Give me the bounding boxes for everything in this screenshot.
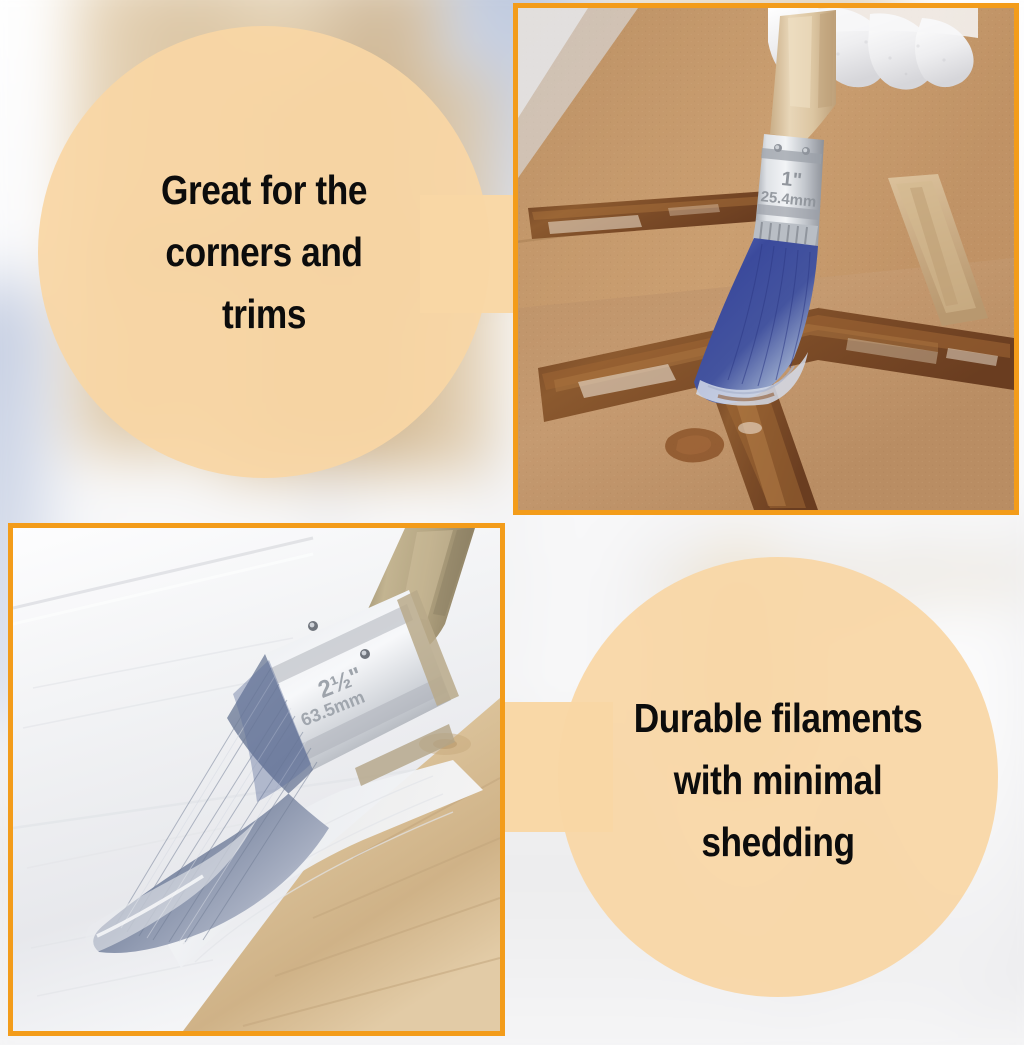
brush-size-imperial-tr: 1" [780,168,803,192]
feature-circle-corners-trims: Great for the corners and trims [38,26,490,478]
photo-staining-frame: 1" 25.4mm [513,3,1019,515]
feature-text-corners-trims: Great for the corners and trims [83,159,444,346]
feature-text-durable-filaments: Durable filaments with minimal shedding [593,687,963,874]
staining-frame-illustration: 1" 25.4mm [518,8,1014,510]
painting-board-illustration: 2½" 63.5mm [13,528,500,1031]
infographic-stage: 1" 25.4mm [0,0,1024,1045]
feature-circle-durable-filaments: Durable filaments with minimal shedding [558,557,998,997]
photo-painting-board: 2½" 63.5mm [8,523,505,1036]
